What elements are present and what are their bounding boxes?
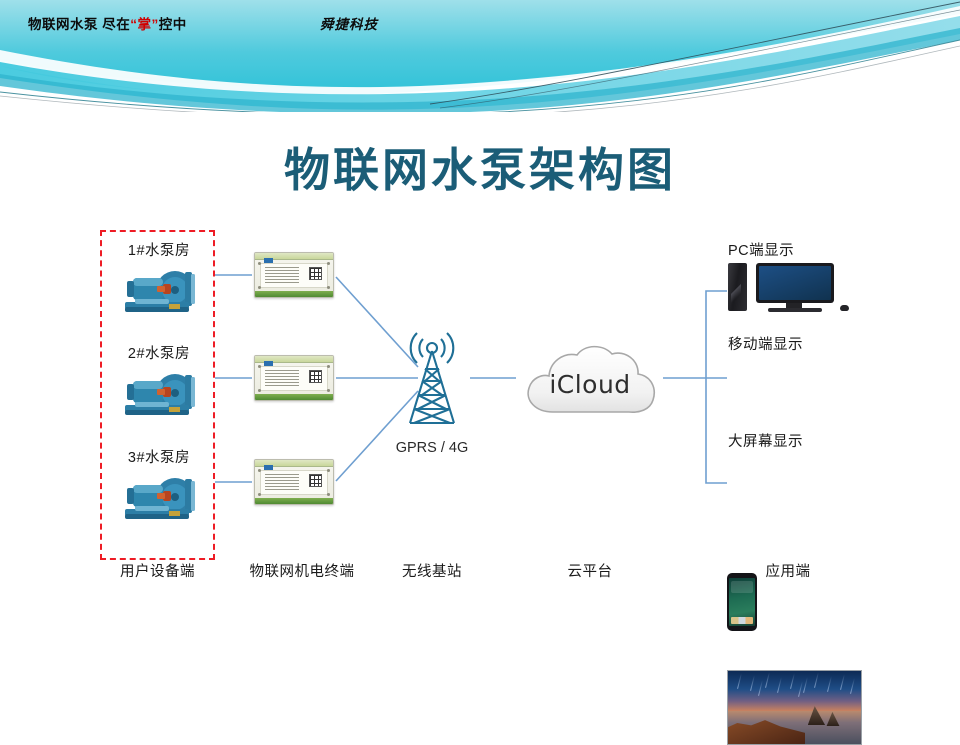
page-title: 物联网水泵架构图	[0, 134, 960, 200]
terminal-faceplate	[260, 366, 328, 391]
mouse-icon	[840, 305, 849, 311]
headline-quote-close: ”	[152, 17, 159, 32]
terminal-logo	[264, 258, 273, 263]
terminal-print-text	[265, 370, 299, 388]
terminal-faceplate	[260, 470, 328, 495]
screw-icon	[258, 389, 261, 392]
pump-room-1[interactable]: 1#水泵房	[104, 239, 214, 320]
terminal-print-text	[265, 474, 299, 492]
tower-label: GPRS / 4G	[362, 440, 502, 456]
iot-terminal-device-3[interactable]	[254, 459, 334, 505]
pump-room-3[interactable]: 3#水泵房	[104, 446, 214, 527]
screw-icon	[258, 493, 261, 496]
desktop-computer-icon	[728, 263, 848, 315]
cloud-label: iCloud	[515, 370, 665, 399]
headline-part-2: 控中	[159, 17, 187, 32]
stage-label-cloud-platform: 云平台	[520, 560, 660, 581]
stage-label-base-station: 无线基站	[372, 560, 492, 581]
pump-room-3-label: 3#水泵房	[104, 446, 214, 467]
terminal-logo	[264, 465, 273, 470]
qr-code-icon	[309, 474, 322, 487]
banner-headline: 物联网水泵 尽在“掌”控中	[28, 13, 187, 33]
iot-terminal-device-1[interactable]	[254, 252, 334, 298]
terminal-faceplate	[260, 263, 328, 288]
stage-label-iot-terminal: 物联网机电终端	[222, 560, 382, 581]
stage-label-row: 用户设备端 物联网机电终端 无线基站 云平台 应用端	[0, 560, 960, 590]
terminal-bottom-rail	[255, 394, 333, 400]
water-pump-icon	[113, 471, 205, 527]
pump-room-1-label: 1#水泵房	[104, 239, 214, 260]
architecture-diagram: 1#水泵房 2#水泵房	[0, 215, 960, 595]
screw-icon	[258, 469, 261, 472]
headline-part-1: 物联网水泵 尽在	[28, 17, 130, 32]
brand-name: 舜捷科技	[320, 13, 378, 33]
terminal-print-text	[265, 267, 299, 285]
monitor-icon	[756, 263, 834, 303]
large-screen-display-label: 大屏幕显示	[728, 430, 803, 451]
headline-highlight: 掌	[138, 17, 152, 32]
screw-icon	[327, 469, 330, 472]
qr-code-icon	[309, 370, 322, 383]
water-pump-icon	[113, 264, 205, 320]
stage-label-user-equipment: 用户设备端	[100, 560, 215, 581]
pump-room-2-label: 2#水泵房	[104, 342, 214, 363]
cell-tower-icon	[392, 323, 472, 433]
header-banner: 物联网水泵 尽在“掌”控中 舜捷科技	[0, 0, 960, 112]
pc-display-label: PC端显示	[728, 239, 794, 260]
terminal-logo	[264, 361, 273, 366]
screw-icon	[327, 286, 330, 289]
screw-icon	[258, 365, 261, 368]
screen-sky	[728, 671, 861, 711]
screw-icon	[327, 262, 330, 265]
screw-icon	[258, 262, 261, 265]
large-screen-icon	[727, 670, 862, 745]
screw-icon	[258, 286, 261, 289]
terminal-bottom-rail	[255, 291, 333, 297]
screw-icon	[327, 493, 330, 496]
headline-quote-open: “	[130, 17, 137, 32]
mobile-display-label: 移动端显示	[728, 333, 803, 354]
stage-label-application: 应用端	[718, 560, 858, 581]
terminal-bottom-rail	[255, 498, 333, 504]
screw-icon	[327, 365, 330, 368]
qr-code-icon	[309, 267, 322, 280]
water-pump-icon	[113, 367, 205, 423]
screw-icon	[327, 389, 330, 392]
monitor-base	[768, 308, 822, 312]
pump-room-2[interactable]: 2#水泵房	[104, 342, 214, 423]
iot-terminal-device-2[interactable]	[254, 355, 334, 401]
pc-case-icon	[728, 263, 747, 311]
monitor-screen	[759, 266, 831, 300]
